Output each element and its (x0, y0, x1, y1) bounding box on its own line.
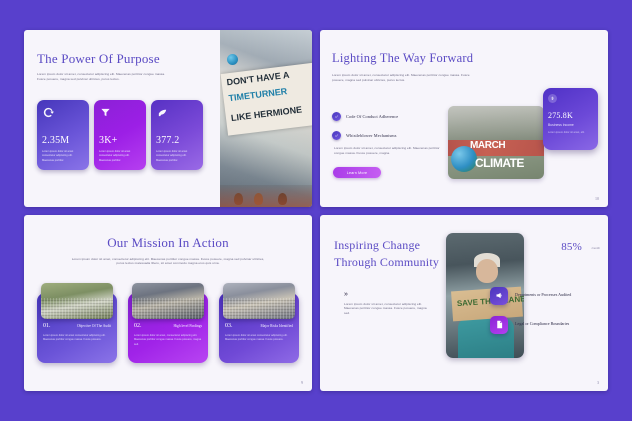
page-number: 9 (301, 380, 303, 385)
check-circle-icon (332, 112, 341, 121)
megaphone-icon (490, 287, 508, 305)
protest-sign: DON'T HAVE A TIMETURNER LIKE HERMIONE (221, 62, 312, 135)
stat-value: 2.35M (42, 135, 84, 146)
slide3-card-list: 01. Objective Of The Audit Lorem ipsum d… (37, 293, 299, 363)
page-number: 3 (597, 380, 599, 385)
percent-label: /month (591, 246, 600, 250)
banner-line-1: MARCH (470, 140, 505, 151)
sign-line-1: DON'T HAVE A (226, 70, 290, 88)
slide-our-mission-in-action[interactable]: Our Mission In Action Lorem ipsum dolor … (24, 215, 312, 392)
stat-text: Lorem ipsum dolor sit amet consectetur a… (42, 150, 84, 163)
item-label: Departments or Processes Audited (515, 292, 571, 298)
list-item[interactable]: Whistleblower Mechanisms (332, 131, 398, 140)
stat-card[interactable]: 377.2 Lorem ipsum dolor sit amet consect… (151, 100, 203, 170)
document-icon (490, 316, 508, 334)
dollar-icon (548, 94, 557, 103)
globe-icon (227, 54, 238, 65)
mission-card[interactable]: 03. Major Risks Identified Lorem ipsum d… (219, 293, 299, 363)
mission-number: 03. (225, 323, 233, 329)
mission-text: Lorem ipsum dolor sit amet consectetur a… (43, 334, 111, 343)
mission-number: 02. (134, 323, 142, 329)
slide2-title: Lighting The Way Forward (332, 52, 512, 66)
mission-name: Objective Of The Audit (65, 324, 111, 329)
slide1-photo: DON'T HAVE A TIMETURNER LIKE HERMIONE (220, 30, 312, 207)
bullet-label: Code Of Conduct Adherence (346, 114, 398, 119)
slide2-stat-card[interactable]: 275.8K Business Income Lorem ipsum dolor… (543, 88, 598, 150)
item-label: Legal or Compliance Boundaries (515, 321, 569, 327)
sign-line-2: TIMETURNER (228, 86, 288, 103)
stat-value: 377.2 (156, 135, 198, 146)
sign-line-3: LIKE HERMIONE (230, 104, 302, 123)
funnel-icon (99, 106, 112, 119)
recycle-icon (42, 106, 55, 119)
banner-line-2: CLIMATE (475, 156, 524, 170)
slide1-subtitle: Lorem ipsum dolor sit amet, consectetur … (37, 72, 169, 82)
list-item[interactable]: Legal or Compliance Boundaries (490, 316, 600, 334)
check-circle-icon (332, 131, 341, 140)
slide1-stat-cards: 2.35M Lorem ipsum dolor sit amet consect… (37, 100, 203, 170)
mission-photo (41, 283, 113, 319)
learn-more-button[interactable]: Learn More (333, 167, 381, 178)
mission-name: High level Findings (156, 324, 202, 329)
mission-text: Lorem ipsum dolor sit amet consectetur a… (225, 334, 293, 343)
slide4-item-list: Departments or Processes Audited Legal o… (490, 287, 600, 345)
slide-the-power-of-purpose[interactable]: DON'T HAVE A TIMETURNER LIKE HERMIONE Th… (24, 30, 312, 207)
percent-value: 85% (561, 241, 582, 253)
slide1-text-block: The Power Of Purpose Lorem ipsum dolor s… (37, 52, 209, 82)
slide-deck: DON'T HAVE A TIMETURNER LIKE HERMIONE Th… (0, 0, 632, 421)
double-chevron-right-icon: » (344, 291, 348, 298)
hand-leaf-icon (156, 106, 169, 119)
slide2-photo: MARCH CLIMATE (448, 106, 544, 179)
slide3-subtitle: Lorem ipsum dolor sit amet, consectetur … (68, 257, 268, 267)
slide2-subtitle: Lorem ipsum dolor sit amet, consectetur … (332, 73, 472, 83)
slide3-title: Our Mission In Action (24, 235, 312, 251)
mission-photo (132, 283, 204, 319)
slide2-note: Lorem ipsum dolor sit amet, consectetur … (334, 146, 444, 156)
stat-card[interactable]: 3K+ Lorem ipsum dolor sit amet consectet… (94, 100, 146, 170)
mission-number: 01. (43, 323, 51, 329)
slide1-title: The Power Of Purpose (37, 52, 209, 66)
slide2-bullet-list: Code Of Conduct Adherence Whistleblower … (332, 112, 398, 150)
stat-value: 275.8K (548, 111, 593, 120)
page-number: 10 (595, 196, 599, 201)
stat-value: 3K+ (99, 135, 141, 146)
stat-text: Lorem ipsum dolor sit amet, elit. (548, 131, 593, 135)
slide2-text-block: Lighting The Way Forward Lorem ipsum dol… (332, 52, 512, 82)
list-item[interactable]: Code Of Conduct Adherence (332, 112, 398, 121)
mission-name: Major Risks Identified (247, 324, 293, 329)
list-item[interactable]: Departments or Processes Audited (490, 287, 600, 305)
bullet-label: Whistleblower Mechanisms (346, 133, 397, 138)
mission-photo (223, 283, 295, 319)
mission-card[interactable]: 02. High level Findings Lorem ipsum dolo… (128, 293, 208, 363)
mission-card[interactable]: 01. Objective Of The Audit Lorem ipsum d… (37, 293, 117, 363)
stat-text: Lorem ipsum dolor sit amet consectetur a… (99, 150, 141, 163)
stat-card[interactable]: 2.35M Lorem ipsum dolor sit amet consect… (37, 100, 89, 170)
stat-label: Business Income (548, 123, 593, 127)
mission-text: Lorem ipsum dolor sit amet, consectetur … (134, 334, 202, 348)
slide4-note: Lorem ipsum dolor sit amet, consectetur … (344, 302, 430, 316)
slide4-title: Inspiring Change Through Community (334, 237, 449, 272)
stat-text: Lorem ipsum dolor sit amet consectetur a… (156, 150, 198, 163)
slide-inspiring-change-through-community[interactable]: Inspiring Change Through Community » Lor… (320, 215, 608, 392)
slide-lighting-the-way-forward[interactable]: Lighting The Way Forward Lorem ipsum dol… (320, 30, 608, 207)
